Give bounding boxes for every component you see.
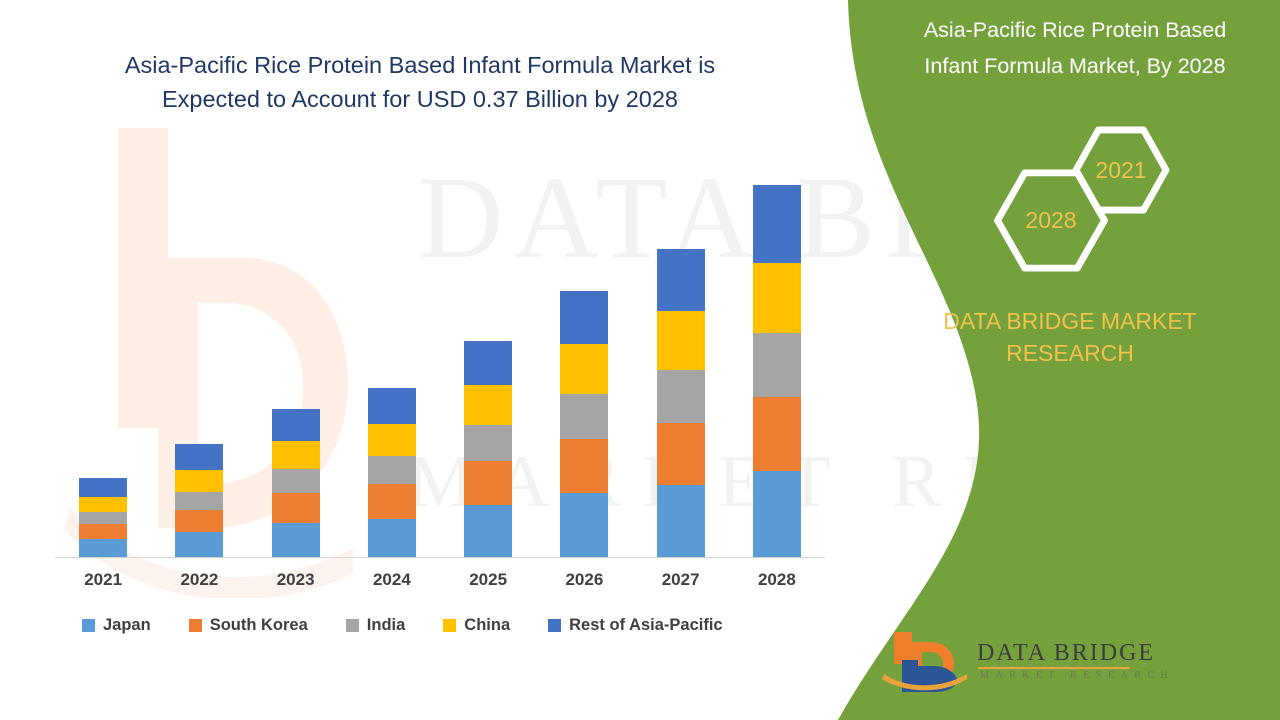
page-title: Asia-Pacific Rice Protein Based Infant F… <box>70 48 770 116</box>
bar-segment <box>464 341 512 385</box>
bar-column <box>633 171 729 557</box>
chart-legend: JapanSouth KoreaIndiaChinaRest of Asia-P… <box>82 616 761 635</box>
stacked-bar <box>560 291 608 557</box>
x-axis-label: 2028 <box>729 570 825 590</box>
bar-segment <box>657 311 705 370</box>
bar-column <box>151 171 247 557</box>
panel-title-line-1: Asia-Pacific Rice Protein Based <box>880 12 1270 48</box>
bar-segment <box>464 425 512 461</box>
bar-segment <box>79 497 127 512</box>
stacked-bar-chart <box>55 170 825 560</box>
bar-segment <box>753 471 801 557</box>
logo-subtitle: MARKET RESEARCH <box>980 670 1174 681</box>
hex-badge-2028: 2028 <box>992 168 1110 273</box>
legend-label: South Korea <box>210 616 308 635</box>
legend-swatch-icon <box>82 619 95 632</box>
panel-title: Asia-Pacific Rice Protein Based Infant F… <box>880 12 1270 84</box>
bar-segment <box>79 539 127 557</box>
bar-segment <box>560 439 608 493</box>
bar-segment <box>560 344 608 394</box>
bar-segment <box>175 444 223 470</box>
bar-segment <box>657 249 705 311</box>
page-title-line-2: Expected to Account for USD 0.37 Billion… <box>70 82 770 116</box>
infographic-canvas: DATA BRIDGE MARKET RESEARCH Asia-Pacific… <box>0 0 1280 720</box>
panel-brand-line-1: DATA BRIDGE MARKET <box>870 305 1270 337</box>
bar-segment <box>753 263 801 333</box>
bar-segment <box>464 385 512 425</box>
legend-item[interactable]: China <box>443 616 510 635</box>
legend-item[interactable]: Japan <box>82 616 151 635</box>
bar-column <box>55 171 151 557</box>
bar-segment <box>175 510 223 532</box>
legend-swatch-icon <box>443 619 456 632</box>
bar-column <box>248 171 344 557</box>
bar-segment <box>175 470 223 492</box>
stacked-bar <box>175 444 223 557</box>
bar-segment <box>368 484 416 519</box>
bar-segment <box>560 291 608 344</box>
bar-segment <box>657 423 705 485</box>
bar-segment <box>79 524 127 539</box>
bar-segment <box>368 519 416 557</box>
stacked-bar <box>464 341 512 557</box>
bar-column <box>344 171 440 557</box>
bar-segment <box>272 441 320 469</box>
stacked-bar <box>753 185 801 557</box>
legend-label: Rest of Asia-Pacific <box>569 616 722 635</box>
stacked-bar <box>368 388 416 557</box>
bar-segment <box>560 394 608 439</box>
x-axis-label: 2025 <box>440 570 536 590</box>
stacked-bar <box>79 478 127 557</box>
bar-segment <box>272 409 320 441</box>
legend-label: Japan <box>103 616 151 635</box>
green-panel-content: Asia-Pacific Rice Protein Based Infant F… <box>860 0 1280 720</box>
bar-segment <box>272 523 320 557</box>
stacked-bar <box>272 409 320 557</box>
panel-brand-name: DATA BRIDGE MARKET RESEARCH <box>870 305 1270 369</box>
bar-segment <box>79 512 127 524</box>
hex-badge-2021-label: 2021 <box>1095 157 1146 184</box>
panel-title-line-2: Infant Formula Market, By 2028 <box>880 48 1270 84</box>
bar-segment <box>753 333 801 397</box>
page-title-line-1: Asia-Pacific Rice Protein Based Infant F… <box>70 48 770 82</box>
logo-divider <box>978 667 1130 669</box>
legend-label: China <box>464 616 510 635</box>
bar-segment <box>272 469 320 493</box>
hex-badge-2028-label: 2028 <box>1025 207 1076 234</box>
bar-segment <box>79 478 127 497</box>
x-axis-label: 2026 <box>536 570 632 590</box>
bar-column <box>440 171 536 557</box>
legend-swatch-icon <box>548 619 561 632</box>
bar-segment <box>368 424 416 456</box>
stacked-bar <box>657 249 705 557</box>
legend-label: India <box>367 616 406 635</box>
bar-segment <box>368 456 416 484</box>
legend-item[interactable]: India <box>346 616 406 635</box>
x-axis-line <box>55 557 825 558</box>
bar-segment <box>560 493 608 557</box>
bar-segment <box>657 370 705 423</box>
x-axis-label: 2024 <box>344 570 440 590</box>
bar-segment <box>753 397 801 471</box>
bar-segment <box>272 493 320 523</box>
legend-swatch-icon <box>346 619 359 632</box>
x-axis-label: 2022 <box>151 570 247 590</box>
bar-segment <box>657 485 705 557</box>
legend-item[interactable]: South Korea <box>189 616 308 635</box>
logo-title: DATA BRIDGE <box>977 640 1155 667</box>
data-bridge-logo: DATA BRIDGE MARKET RESEARCH <box>882 630 1132 702</box>
panel-brand-line-2: RESEARCH <box>870 337 1270 369</box>
hexagon-badges: 2021 2028 <box>860 120 1280 300</box>
bar-segment <box>368 388 416 424</box>
x-axis-label: 2023 <box>248 570 344 590</box>
bar-segment <box>753 185 801 263</box>
x-axis-label: 2027 <box>633 570 729 590</box>
bar-column <box>729 171 825 557</box>
bar-column <box>536 171 632 557</box>
bar-segment <box>175 492 223 510</box>
legend-swatch-icon <box>189 619 202 632</box>
x-axis-labels: 20212022202320242025202620272028 <box>55 570 825 590</box>
bar-segment <box>464 461 512 505</box>
logo-mark-icon <box>882 630 972 694</box>
chart-bars <box>55 171 825 557</box>
chart-plot-area <box>55 170 825 558</box>
legend-item[interactable]: Rest of Asia-Pacific <box>548 616 722 635</box>
bar-segment <box>175 532 223 557</box>
bar-segment <box>464 505 512 557</box>
x-axis-label: 2021 <box>55 570 151 590</box>
